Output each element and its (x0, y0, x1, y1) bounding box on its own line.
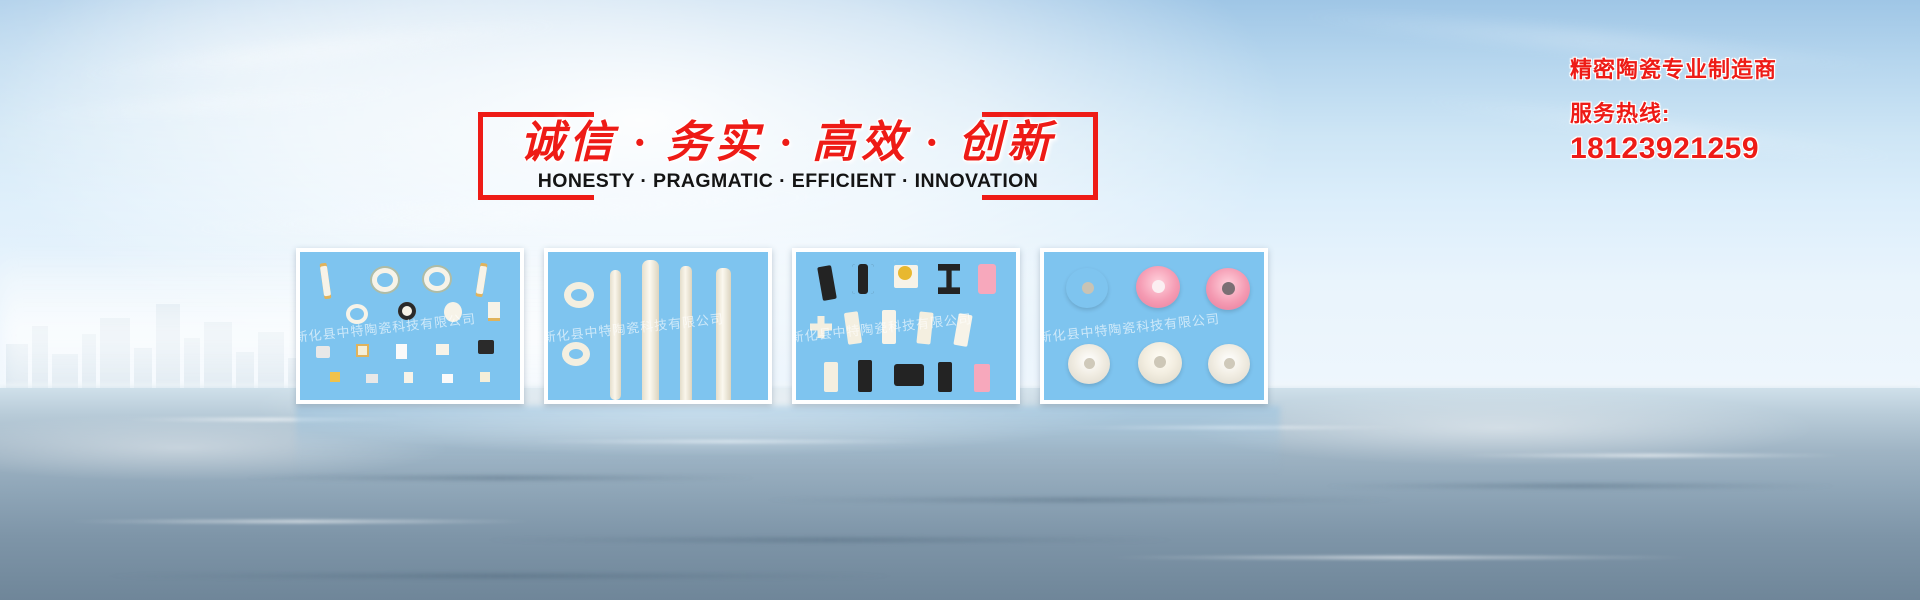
bracket-bottom-left (478, 195, 594, 200)
cloud-streak (60, 13, 579, 87)
cloud-streak (0, 81, 430, 127)
panels-water-reflection (296, 406, 1280, 476)
panel-small-ceramic-components[interactable]: 新化县中特陶瓷科技有限公司 (296, 248, 524, 404)
slogan-chinese: 诚信 · 务实 · 高效 · 创新 (478, 106, 1098, 170)
product-panel-gallery: 新化县中特陶瓷科技有限公司 新化县中特陶瓷科技有限公司 (296, 248, 1280, 404)
hotline-label: 服务热线: (1570, 96, 1900, 128)
slogan-english: HONESTY · PRAGMATIC · EFFICIENT · INNOVA… (478, 170, 1098, 193)
slogan-block: 诚信 · 务实 · 高效 · 创新 HONESTY · PRAGMATIC · … (478, 112, 1098, 204)
panel-ceramic-rods-tubes[interactable]: 新化县中特陶瓷科技有限公司 (544, 248, 772, 404)
panel-black-white-ceramic-parts[interactable]: 新化县中特陶瓷科技有限公司 (792, 248, 1020, 404)
panel-ceramic-discs-rings[interactable]: 新化县中特陶瓷科技有限公司 (1040, 248, 1268, 404)
contact-block: 精密陶瓷专业制造商 服务热线: 18123921259 (1570, 52, 1900, 166)
hotline-phone-number[interactable]: 18123921259 (1570, 132, 1900, 166)
company-tagline: 精密陶瓷专业制造商 (1570, 52, 1900, 84)
bracket-bottom-right (982, 195, 1098, 200)
banner-root: 诚信 · 务实 · 高效 · 创新 HONESTY · PRAGMATIC · … (0, 0, 1920, 600)
